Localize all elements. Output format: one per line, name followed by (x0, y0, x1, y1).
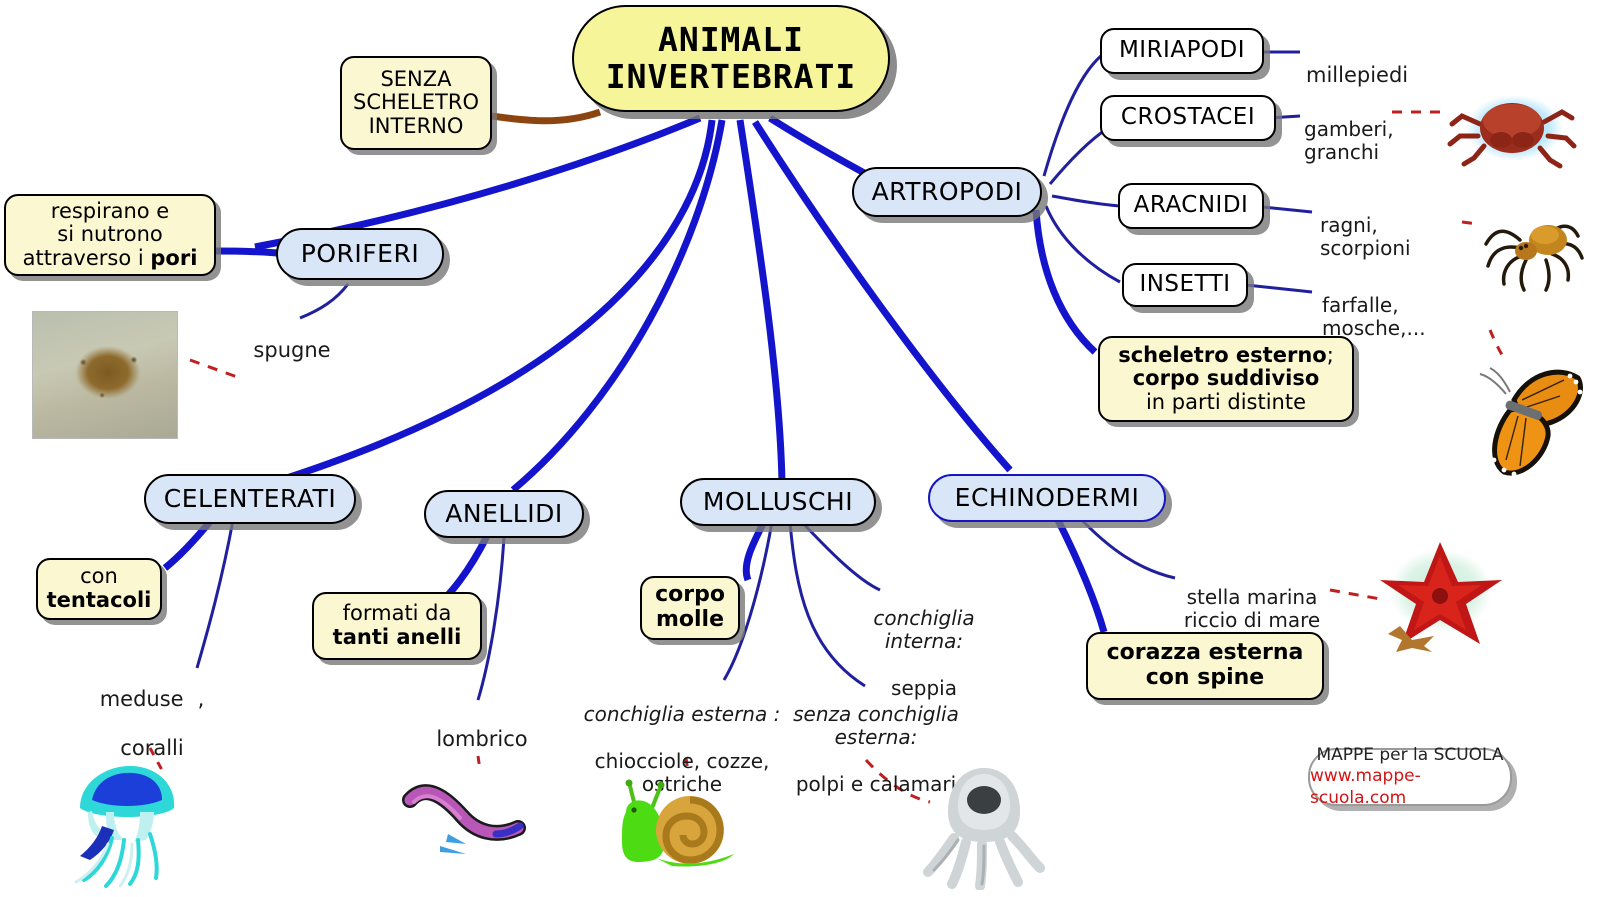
note-celenterati-tentacoli[interactable]: con tentacoli (36, 558, 162, 620)
edge-artropodi-to-note (1036, 210, 1095, 352)
note-artropodi-line1: scheletro esterno; (1118, 344, 1334, 368)
spider-image (1474, 196, 1592, 300)
note-poriferi-line3: attraverso i pori (23, 247, 198, 271)
note-poriferi-respirazione[interactable]: respirano e si nutrono attraverso i pori (4, 194, 216, 276)
example-lombrico: lombrico (412, 702, 552, 752)
butterfly-image (1448, 356, 1592, 480)
root-node-label: ANIMALI INVERTEBRATI (606, 22, 856, 96)
note-artropodi-line3: in parti distinte (1146, 391, 1306, 415)
example-comma: , (184, 687, 205, 712)
note-celenterati-line2: tentacoli (47, 589, 152, 613)
snail-image (608, 766, 748, 870)
note-poriferi-line1: respirano e (51, 200, 169, 224)
edge-echinodermi-to-note (1058, 520, 1104, 632)
category-poriferi[interactable]: PORIFERI (276, 228, 444, 280)
note-echinodermi-corazza[interactable]: corazza esterna con spine (1086, 632, 1324, 700)
edge-artropodi-to-crostacei (1050, 128, 1108, 184)
subcategory-miriapodi[interactable]: MIRIAPODI (1100, 28, 1264, 74)
example-conchiglia-interna: conchiglia interna: seppia (862, 583, 986, 701)
subcategory-crostacei[interactable]: CROSTACEI (1100, 95, 1276, 141)
category-echinodermi[interactable]: ECHINODERMI (928, 474, 1166, 522)
edge-root-to-molluschi (740, 120, 782, 483)
subcategory-miriapodi-label: MIRIAPODI (1119, 38, 1245, 64)
edge-root-to-celenterati (268, 120, 712, 484)
example-conchiglia-esterna-italic: conchiglia esterna : (584, 702, 781, 726)
note-celenterati-line1: con (80, 565, 118, 589)
dash-link-butterfly (1490, 330, 1504, 358)
starfish-image (1366, 534, 1516, 652)
category-molluschi[interactable]: MOLLUSCHI (680, 478, 876, 526)
note-poriferi-bold-pori: pori (150, 246, 197, 270)
category-echinodermi-label: ECHINODERMI (955, 484, 1140, 512)
watermark-badge[interactable]: MAPPE per la SCUOLA www.mappe-scuola.com (1308, 748, 1512, 806)
jellyfish-image (62, 756, 194, 890)
note-molluschi-corpo-molle[interactable]: corpo molle (640, 576, 740, 640)
root-node-animali-invertebrati[interactable]: ANIMALI INVERTEBRATI (572, 5, 890, 112)
note-anellidi-line2: tanti anelli (333, 626, 462, 650)
category-poriferi-label: PORIFERI (301, 240, 419, 268)
subcategory-aracnidi-label: ARACNIDI (1134, 193, 1249, 219)
example-crostacei: gamberi, granchi (1304, 94, 1444, 165)
example-echinodermi: stella marina riccio di mare (1178, 562, 1326, 633)
category-molluschi-label: MOLLUSCHI (703, 488, 853, 516)
example-celenterati: meduse, coralli (72, 662, 232, 761)
note-echinodermi-line1: corazza esterna (1107, 641, 1304, 666)
edge-insetti-to-examples (1246, 285, 1312, 292)
example-conchiglia-interna-italic: conchiglia interna: (873, 606, 974, 654)
concept-map-canvas: ANIMALI INVERTEBRATI SENZA SCHELETRO INT… (0, 0, 1600, 897)
crab-image (1444, 78, 1580, 174)
example-senza-conchiglia-italic: senza conchiglia esterna: (793, 702, 959, 750)
subcategory-insetti[interactable]: INSETTI (1122, 263, 1248, 307)
subcategory-insetti-label: INSETTI (1139, 272, 1230, 298)
subcategory-crostacei-label: CROSTACEI (1121, 105, 1255, 131)
note-artropodi-scheletro[interactable]: scheletro esterno; corpo suddiviso in pa… (1098, 336, 1354, 422)
edge-root-to-senza-scheletro (492, 112, 600, 121)
edge-root-to-anellidi (513, 120, 722, 490)
worm-image (400, 772, 540, 860)
category-anellidi[interactable]: ANELLIDI (424, 490, 584, 538)
example-meduse: meduse (100, 687, 184, 711)
subcategory-aracnidi[interactable]: ARACNIDI (1118, 183, 1264, 229)
note-artropodi-line2: corpo suddiviso (1133, 367, 1320, 391)
edge-molluschi-to-note (746, 520, 765, 580)
edge-celenterati-to-examples (197, 520, 233, 668)
note-anellidi-anelli[interactable]: formati da tanti anelli (312, 592, 482, 660)
example-spugne: spugne (240, 313, 344, 363)
example-aracnidi: ragni, scorpioni (1320, 190, 1470, 261)
note-senza-scheletro-label: SENZA SCHELETRO INTERNO (353, 68, 479, 139)
example-conchiglia-interna-plain: seppia (891, 676, 957, 700)
edge-artropodi-to-insetti (1046, 206, 1120, 282)
category-celenterati[interactable]: CELENTERATI (144, 474, 356, 524)
note-poriferi-line2: si nutrono (57, 223, 162, 247)
category-artropodi-label: ARTROPODI (872, 178, 1023, 206)
dash-link-sponge (190, 360, 240, 378)
edge-molluschi-to-conchiglia-interna (800, 520, 880, 590)
note-molluschi-line1: corpo (655, 583, 725, 608)
watermark-link[interactable]: www.mappe-scuola.com (1310, 766, 1510, 809)
category-celenterati-label: CELENTERATI (164, 485, 336, 513)
sponge-photo (32, 311, 178, 439)
edge-echinodermi-to-examples (1078, 516, 1175, 578)
example-insetti: farfalle, mosche,... (1322, 270, 1482, 341)
watermark-line1: MAPPE per la SCUOLA (1316, 745, 1503, 766)
category-artropodi[interactable]: ARTROPODI (852, 167, 1042, 217)
octopus-image (914, 760, 1050, 890)
edge-molluschi-to-senza-conchiglia (790, 522, 865, 686)
edge-artropodi-to-miriapodi (1044, 52, 1106, 176)
edge-celenterati-to-note (165, 518, 213, 568)
dash-link-worm (478, 756, 480, 770)
note-anellidi-line1: formati da (343, 602, 452, 626)
note-senza-scheletro-interno[interactable]: SENZA SCHELETRO INTERNO (340, 56, 492, 150)
edge-artropodi-to-aracnidi (1052, 196, 1120, 206)
note-echinodermi-line2: con spine (1146, 666, 1264, 691)
category-anellidi-label: ANELLIDI (445, 500, 562, 528)
note-molluschi-line2: molle (656, 608, 724, 633)
